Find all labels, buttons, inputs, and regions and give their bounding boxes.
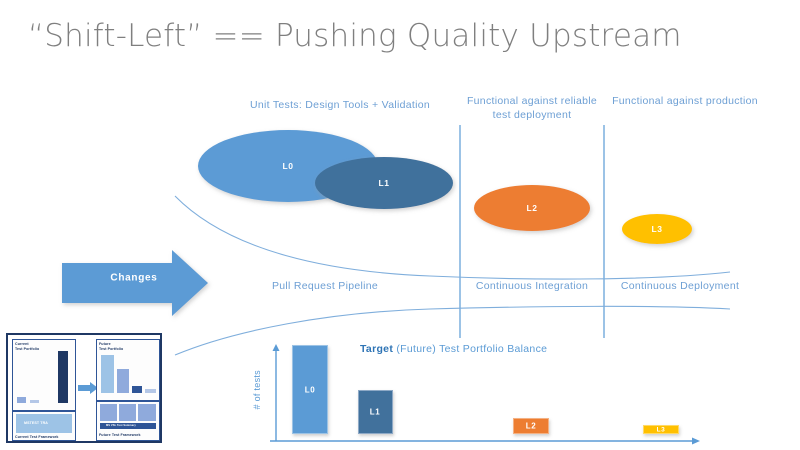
inset-current-bar-L1 [30, 400, 39, 403]
inset-future-portfolio-caption-line2: Test Portfolio [99, 347, 123, 352]
chart-title: Target (Future) Test Portfolio Balance [360, 343, 547, 355]
changes-arrow-label: Changes [96, 273, 172, 284]
chart-bar-label-L3: L3 [657, 427, 666, 434]
bubble-label-L1: L1 [378, 178, 389, 188]
stage-label-continuous-deployment: Continuous Deployment [605, 279, 755, 293]
inset-future-framework-caption: Future Test Framework [99, 433, 141, 438]
chart-bar-label-L2: L2 [526, 422, 537, 431]
bubble-label-L0: L0 [282, 161, 293, 171]
inset-current-framework-caption: Current Test Framework [15, 435, 58, 440]
inset-future-tile-3 [138, 404, 156, 421]
inset-future-bar-L2 [132, 386, 142, 393]
inset-current-bar-L0 [17, 397, 26, 403]
column-header-functional-reliable: Functional against reliable test deploym… [462, 94, 602, 122]
chart-bar-label-L1: L1 [370, 408, 381, 417]
inset-framework-label: MSTEST TRA [24, 421, 48, 426]
bubble-label-L2: L2 [526, 203, 537, 213]
inset-future-bar-L0 [101, 355, 114, 393]
inset-current-bar-L2 [58, 351, 68, 403]
slide-canvas: “Shift-Left” == Pushing Quality Upstream… [0, 0, 800, 450]
chart-title-emphasis: Target [360, 343, 393, 355]
inset-framework-summary-label: MS VSL Test Summary [106, 424, 136, 429]
stage-label-continuous-integration: Continuous Integration [462, 279, 602, 293]
inset-future-bar-L1 [117, 369, 129, 393]
stage-label-pull-request: Pull Request Pipeline [240, 279, 410, 293]
column-header-functional-production: Functional against production [605, 94, 765, 108]
inset-future-tile-1 [100, 404, 117, 421]
column-header-unit-tests: Unit Tests: Design Tools + Validation [180, 98, 500, 112]
inset-current-portfolio-caption-line2: Test Portfolio [15, 347, 39, 352]
inset-thumbnail[interactable]: Current Test Portfolio MSTEST TRA Curren… [6, 333, 162, 443]
chart-y-axis-label: # of tests [252, 370, 262, 410]
chart-title-rest: (Future) Test Portfolio Balance [393, 343, 547, 355]
inset-arrow-icon [78, 381, 98, 395]
bubble-label-L3: L3 [651, 224, 662, 234]
chart-x-axis-arrow [692, 438, 700, 445]
inset-future-tile-2 [119, 404, 136, 421]
inset-future-bar-L3 [145, 389, 156, 393]
chart-bar-label-L0: L0 [305, 386, 316, 395]
chart-y-axis-arrow [273, 344, 280, 351]
